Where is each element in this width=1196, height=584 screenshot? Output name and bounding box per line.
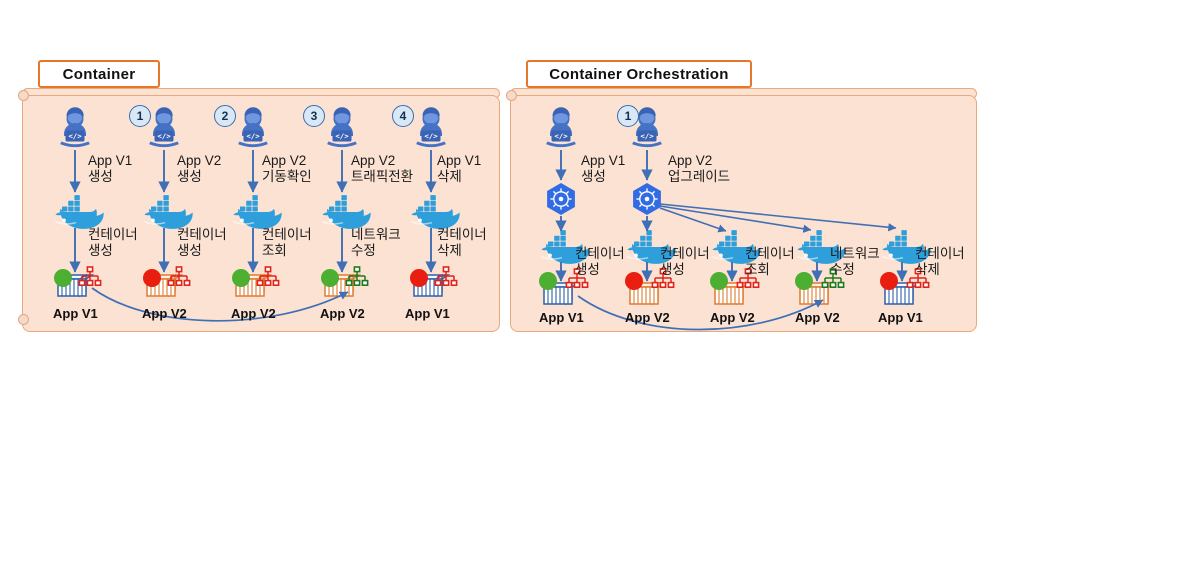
action-label: App V1 삭제 [437, 153, 481, 184]
step-badge-2-text: 2 [222, 109, 229, 123]
action-label: App V2 기동확인 [262, 153, 312, 184]
engine-label: 네트워크 수정 [830, 246, 880, 277]
panel-corner-handle-bottomleft[interactable] [18, 314, 29, 325]
action-label: App V2 생성 [177, 153, 221, 184]
engine-label: 네트워크 수정 [351, 227, 401, 258]
panel-title-orchestration-text: Container Orchestration [549, 66, 728, 83]
step-badge-orch-1-text: 1 [625, 109, 632, 123]
engine-label: 컨테이너 조회 [262, 227, 312, 258]
engine-label: 컨테이너 생성 [177, 227, 227, 258]
engine-label: 컨테이너 생성 [660, 246, 710, 277]
app-label: App V2 [710, 310, 755, 325]
app-label: App V1 [53, 306, 98, 321]
engine-label: 컨테이너 생성 [88, 227, 138, 258]
step-badge-3-text: 3 [311, 109, 318, 123]
panel-orchestration [510, 95, 977, 332]
step-badge-1[interactable]: 1 [129, 105, 151, 127]
engine-label: 컨테이너 삭제 [437, 227, 487, 258]
step-badge-4-text: 4 [400, 109, 407, 123]
action-label: App V2 트래픽전환 [351, 153, 413, 184]
app-label: App V2 [320, 306, 365, 321]
action-label: App V1 생성 [88, 153, 132, 184]
engine-label: 컨테이너 생성 [575, 246, 625, 277]
action-label: App V1 생성 [581, 153, 625, 184]
app-label: App V2 [142, 306, 187, 321]
panel-container [22, 95, 500, 332]
app-label: App V1 [878, 310, 923, 325]
step-badge-4[interactable]: 4 [392, 105, 414, 127]
step-badge-orch-1[interactable]: 1 [617, 105, 639, 127]
app-label: App V1 [539, 310, 584, 325]
app-label: App V1 [405, 306, 450, 321]
app-label: App V2 [795, 310, 840, 325]
step-badge-3[interactable]: 3 [303, 105, 325, 127]
panel-corner-handle-topleft-orch[interactable] [506, 90, 517, 101]
engine-label: 컨테이너 조회 [745, 246, 795, 277]
panel-title-orchestration: Container Orchestration [526, 60, 752, 88]
panel-title-container-text: Container [63, 66, 136, 83]
step-badge-1-text: 1 [137, 109, 144, 123]
app-label: App V2 [231, 306, 276, 321]
panel-title-container: Container [38, 60, 160, 88]
step-badge-2[interactable]: 2 [214, 105, 236, 127]
panel-corner-handle-topleft[interactable] [18, 90, 29, 101]
engine-label: 컨테이너 삭제 [915, 246, 965, 277]
action-label: App V2 업그레이드 [668, 153, 730, 184]
app-label: App V2 [625, 310, 670, 325]
